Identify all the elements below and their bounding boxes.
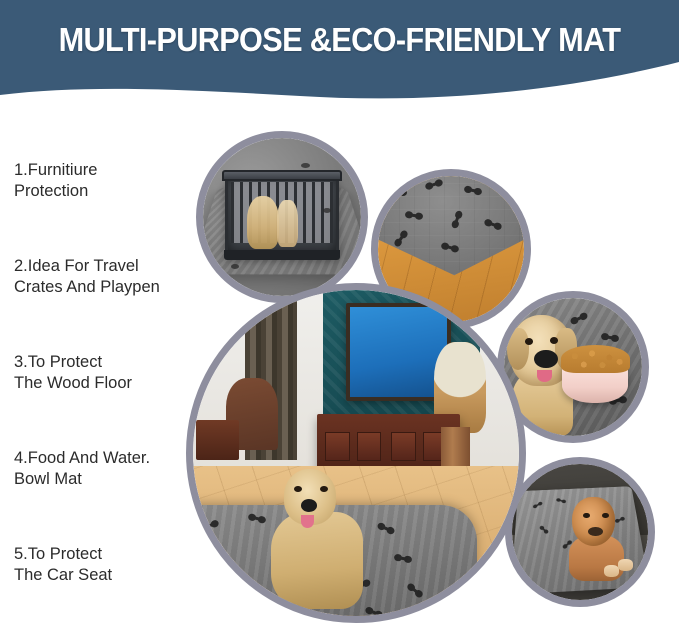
feature-list: 1.Furnitiure Protection 2.Idea For Trave…	[14, 160, 204, 586]
crate-base-tray	[224, 250, 341, 259]
food-bowl-scene	[504, 298, 642, 436]
bone-icon	[218, 580, 237, 592]
header-banner: MULTI-PURPOSE &ECO-FRIENDLY MAT	[0, 0, 679, 110]
feature-item-food-water-bowl-mat: 4.Food And Water. Bowl Mat	[14, 448, 204, 490]
dog-eye-left	[294, 486, 302, 492]
dog-body	[271, 512, 362, 610]
puppy-eye-left	[583, 513, 590, 518]
dog-eye-right	[320, 486, 328, 492]
console-drawer	[357, 432, 381, 461]
dog-tongue	[301, 515, 314, 528]
bone-icon	[271, 605, 290, 616]
feature-item-furniture-protection: 1.Furnitiure Protection	[14, 160, 204, 202]
bone-icon	[376, 522, 395, 536]
puppy-eye-right	[602, 513, 609, 518]
living-room-scene	[193, 290, 519, 616]
crate-roof	[222, 170, 342, 181]
console-drawer	[325, 432, 349, 461]
bone-icon	[532, 502, 543, 510]
page-title: MULTI-PURPOSE &ECO-FRIENDLY MAT	[24, 20, 655, 60]
puppy-head	[572, 497, 616, 546]
console-drawer	[391, 432, 415, 461]
dog-nose	[301, 499, 317, 512]
bone-icon	[323, 208, 331, 213]
puppy-paw-right	[618, 559, 633, 571]
bone-icon	[555, 498, 566, 504]
car-seat-scene	[512, 464, 648, 600]
bone-icon	[389, 189, 407, 196]
side-table	[196, 420, 238, 459]
dog-eye-right	[550, 337, 558, 344]
kibble-food	[561, 345, 630, 373]
feature-item-travel-crates-playpen: 2.Idea For Travel Crates And Playpen	[14, 256, 204, 298]
dog-in-crate-right	[277, 200, 298, 247]
bone-icon	[394, 553, 413, 563]
dog-in-crate-left	[247, 196, 279, 248]
bone-icon	[539, 525, 549, 534]
feature-item-protect-wood-floor: 3.To Protect The Wood Floor	[14, 352, 204, 394]
crate-scene	[203, 138, 361, 296]
feature-item-protect-car-seat: 5.To Protect The Car Seat	[14, 544, 204, 586]
dog-eye-left	[525, 338, 533, 345]
product-infographic: MULTI-PURPOSE &ECO-FRIENDLY MAT 1.Furnit…	[0, 0, 679, 642]
puppy-nose	[588, 527, 603, 537]
bone-icon	[207, 547, 225, 565]
bone-icon	[364, 606, 383, 616]
bone-icon	[200, 520, 219, 533]
photo-circle-crate-on-mat	[196, 131, 368, 303]
bone-icon	[614, 517, 625, 524]
photo-circle-puppy-on-car-seat	[505, 457, 655, 607]
bone-icon	[406, 582, 424, 599]
bone-icon	[247, 513, 266, 524]
photo-circle-dog-in-living-room	[186, 283, 526, 623]
